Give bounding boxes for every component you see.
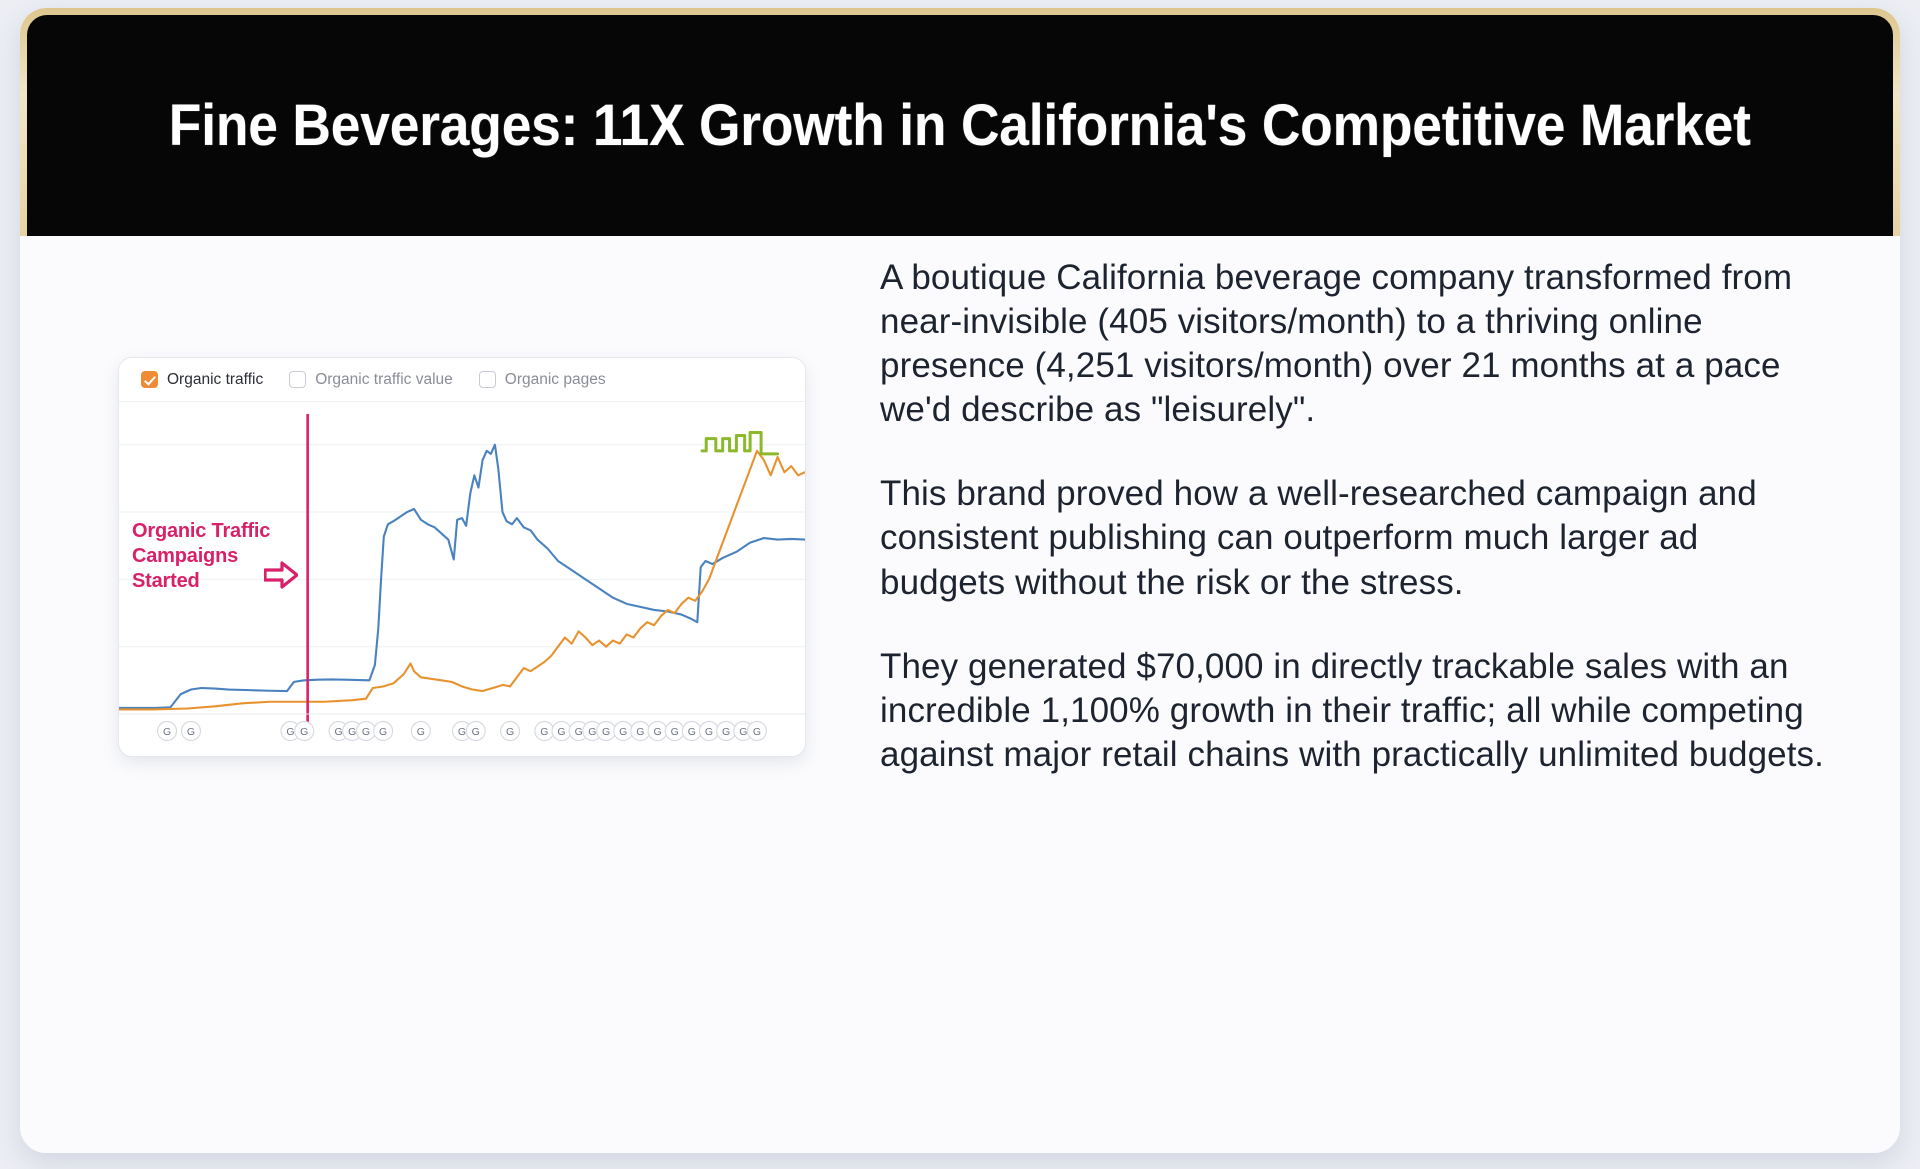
checkbox-unchecked-icon[interactable]: [289, 371, 306, 388]
page-title: Fine Beverages: 11X Growth in California…: [169, 92, 1751, 159]
traffic-line-chart: GGGGGGGGGGGGGGGGGGGGGGGGGG: [119, 402, 805, 757]
svg-text:G: G: [636, 727, 644, 738]
legend-item-organic-traffic[interactable]: Organic traffic: [141, 371, 263, 389]
chart-plot-area: GGGGGGGGGGGGGGGGGGGGGGGGGG: [119, 402, 805, 757]
legend-label-organic-traffic-value: Organic traffic value: [315, 371, 453, 389]
paragraph-2: This brand proved how a well-researched …: [880, 472, 1830, 604]
content-card: Fine Beverages: 11X Growth in California…: [20, 8, 1900, 1153]
svg-text:G: G: [602, 727, 610, 738]
svg-text:G: G: [575, 727, 583, 738]
svg-text:G: G: [753, 727, 761, 738]
checkbox-unchecked-icon[interactable]: [479, 371, 496, 388]
svg-text:G: G: [653, 727, 661, 738]
svg-text:G: G: [557, 727, 565, 738]
chart-legend: Organic traffic Organic traffic value Or…: [119, 358, 805, 402]
svg-text:G: G: [286, 727, 294, 738]
svg-text:G: G: [458, 727, 466, 738]
svg-text:G: G: [348, 727, 356, 738]
svg-text:G: G: [417, 727, 425, 738]
chart-column: Organic traffic Organic traffic value Or…: [20, 236, 840, 1153]
svg-text:G: G: [619, 727, 627, 738]
svg-text:G: G: [163, 727, 171, 738]
svg-text:G: G: [506, 727, 514, 738]
svg-text:G: G: [739, 727, 747, 738]
header-black-bar: Fine Beverages: 11X Growth in California…: [27, 15, 1893, 236]
svg-text:G: G: [588, 727, 596, 738]
svg-text:G: G: [362, 727, 370, 738]
svg-text:G: G: [540, 727, 548, 738]
description-column: A boutique California beverage company t…: [840, 236, 1900, 1153]
svg-text:G: G: [722, 727, 730, 738]
svg-text:G: G: [187, 727, 195, 738]
slide-root: Fine Beverages: 11X Growth in California…: [0, 0, 1920, 1169]
svg-text:G: G: [705, 727, 713, 738]
paragraph-3: They generated $70,000 in directly track…: [880, 645, 1830, 777]
legend-label-organic-traffic: Organic traffic: [167, 371, 263, 389]
paragraph-1: A boutique California beverage company t…: [880, 256, 1830, 432]
svg-text:G: G: [300, 727, 308, 738]
legend-item-organic-traffic-value[interactable]: Organic traffic value: [289, 371, 453, 389]
analytics-chart-card: Organic traffic Organic traffic value Or…: [118, 357, 806, 757]
body-area: Organic traffic Organic traffic value Or…: [20, 236, 1900, 1153]
legend-label-organic-pages: Organic pages: [505, 371, 606, 389]
svg-text:G: G: [671, 727, 679, 738]
legend-item-organic-pages[interactable]: Organic pages: [479, 371, 606, 389]
checkbox-checked-icon[interactable]: [141, 371, 158, 388]
svg-text:G: G: [688, 727, 696, 738]
header-band: Fine Beverages: 11X Growth in California…: [20, 8, 1900, 236]
svg-text:G: G: [379, 727, 387, 738]
svg-text:G: G: [334, 727, 342, 738]
svg-text:G: G: [472, 727, 480, 738]
